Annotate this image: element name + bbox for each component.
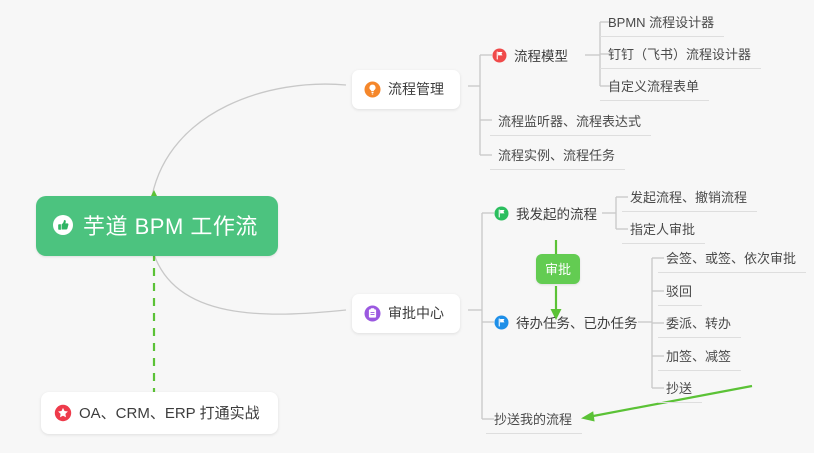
leaf-label: 抄送 [666, 378, 692, 397]
integration-callout[interactable]: OA、CRM、ERP 打通实战 [41, 392, 278, 434]
leaf-add-remove-sign[interactable]: 加签、减签 [658, 343, 741, 371]
leaf-label: 委派、转办 [666, 313, 731, 332]
lightbulb-icon [364, 81, 381, 98]
branch-approval-center[interactable]: 审批中心 [352, 294, 460, 333]
leaf-process-instance[interactable]: 流程实例、流程任务 [490, 142, 625, 170]
node-my-initiated[interactable]: 我发起的流程 [492, 200, 601, 227]
branch-process-management[interactable]: 流程管理 [352, 70, 460, 109]
leaf-process-listener[interactable]: 流程监听器、流程表达式 [490, 108, 651, 136]
leaf-label: 加签、减签 [666, 346, 731, 365]
flag-icon [494, 315, 509, 330]
leaf-label: 流程监听器、流程表达式 [498, 111, 641, 130]
leaf-custom-form[interactable]: 自定义流程表单 [600, 73, 709, 101]
leaf-label: 自定义流程表单 [608, 76, 699, 95]
node-label: 流程模型 [514, 45, 568, 65]
node-todo-done-tasks[interactable]: 待办任务、已办任务 [492, 309, 642, 336]
leaf-bpmn-designer[interactable]: BPMN 流程设计器 [600, 9, 724, 37]
leaf-start-cancel-process[interactable]: 发起流程、撤销流程 [622, 184, 757, 212]
node-process-model[interactable]: 流程模型 [490, 42, 572, 69]
leaf-label: 钉钉（飞书）流程设计器 [608, 44, 751, 63]
leaf-reject[interactable]: 驳回 [658, 278, 702, 306]
leaf-label: 指定人审批 [630, 219, 695, 238]
leaf-label: 驳回 [666, 281, 692, 300]
root-node[interactable]: 芋道 BPM 工作流 [36, 196, 278, 256]
leaf-dingtalk-designer[interactable]: 钉钉（飞书）流程设计器 [600, 41, 761, 69]
branch-label: 审批中心 [388, 303, 444, 323]
thumbs-up-icon [52, 214, 74, 236]
leaf-label: 流程实例、流程任务 [498, 145, 615, 164]
flag-icon [494, 206, 509, 221]
integration-callout-label: OA、CRM、ERP 打通实战 [79, 402, 260, 423]
clipboard-icon [364, 305, 381, 322]
node-label: 我发起的流程 [516, 203, 597, 223]
approval-tag-label: 审批 [545, 259, 571, 278]
node-label: 待办任务、已办任务 [516, 312, 638, 332]
leaf-cc-to-me[interactable]: 抄送我的流程 [486, 406, 582, 434]
leaf-label: 发起流程、撤销流程 [630, 187, 747, 206]
leaf-delegate-transfer[interactable]: 委派、转办 [658, 310, 741, 338]
star-icon [54, 404, 72, 422]
leaf-assignee-approval[interactable]: 指定人审批 [622, 216, 705, 244]
mindmap-canvas: 芋道 BPM 工作流 流程管理 流程模型 流程监听器、流程表达式 流程实例、流 [0, 0, 814, 453]
flag-icon [492, 48, 507, 63]
leaf-countersign[interactable]: 会签、或签、依次审批 [658, 245, 806, 273]
leaf-label: BPMN 流程设计器 [608, 12, 714, 31]
leaf-carbon-copy[interactable]: 抄送 [658, 375, 702, 403]
root-label: 芋道 BPM 工作流 [83, 209, 258, 241]
approval-tag[interactable]: 审批 [536, 254, 580, 284]
leaf-label: 抄送我的流程 [494, 409, 572, 428]
branch-label: 流程管理 [388, 79, 444, 99]
leaf-label: 会签、或签、依次审批 [666, 248, 796, 267]
